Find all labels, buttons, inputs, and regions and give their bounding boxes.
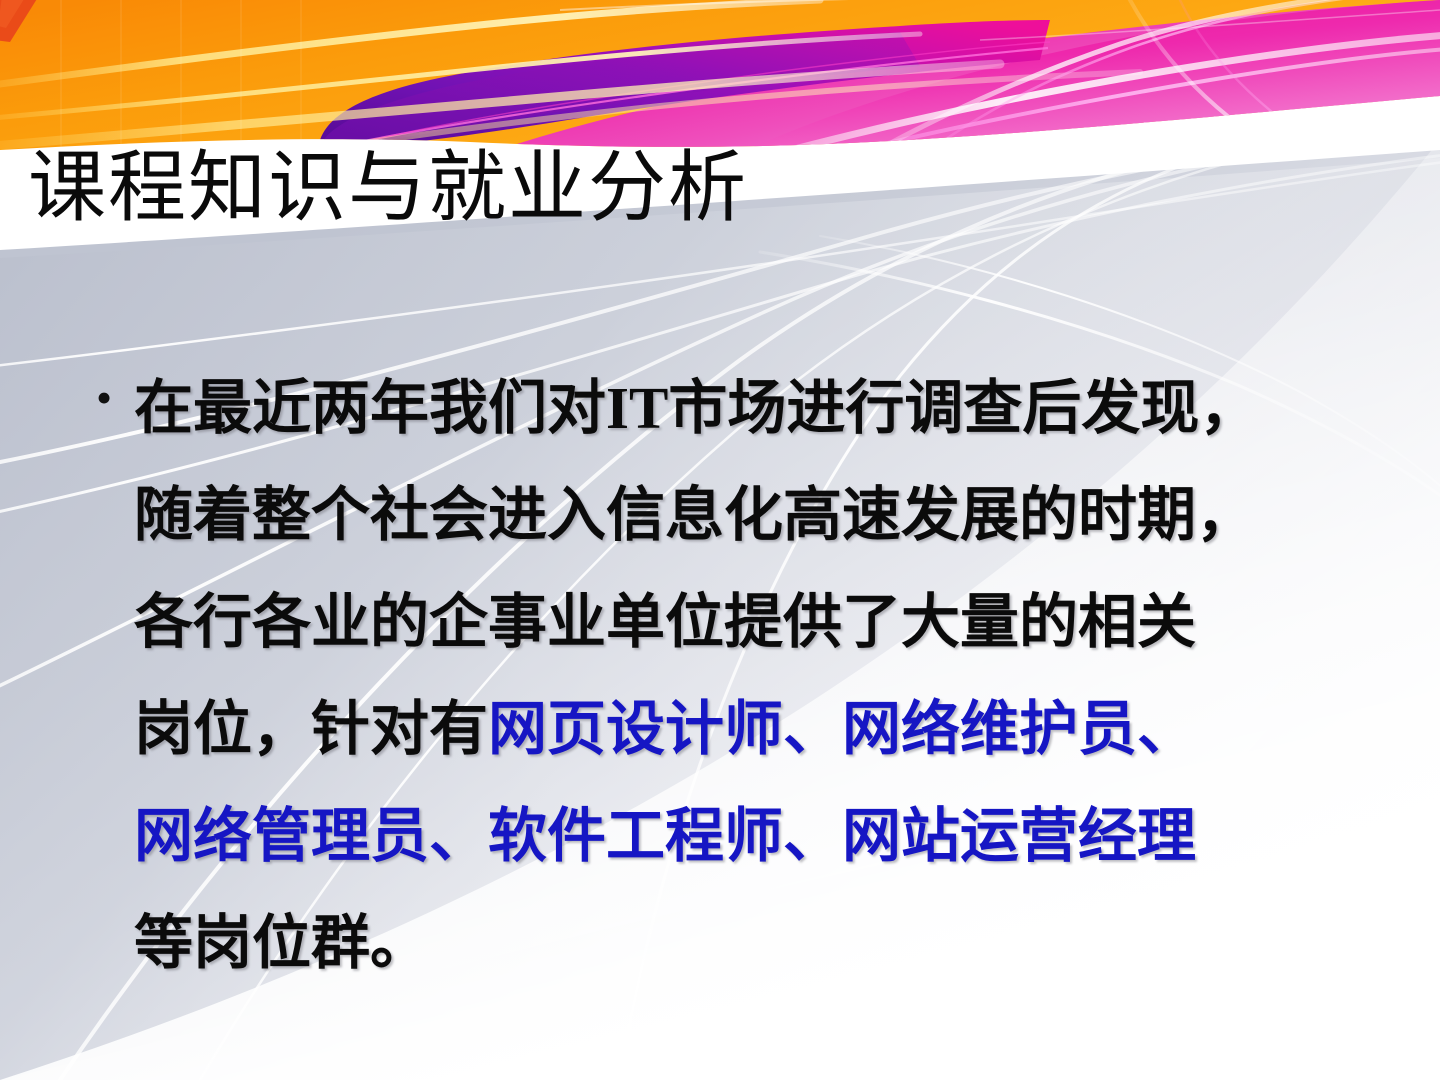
page-title: 课程知识与就业分析: [28, 148, 748, 228]
highlighted-job-titles: 网页设计师、网络维护员、: [488, 696, 1196, 762]
text-segment: 随着整个社会进入信息化高速发展的时期，: [134, 482, 1255, 548]
text-line-1: 在最近两年我们对IT市场进行调查后发现，: [134, 355, 1388, 462]
text-line-5: 网络管理员、软件工程师、网站运营经理: [134, 783, 1388, 890]
bullet-marker-icon: •: [88, 355, 134, 441]
slide-body: • 在最近两年我们对IT市场进行调查后发现， 随着整个社会进入信息化高速发展的时…: [88, 355, 1388, 997]
text-line-2: 随着整个社会进入信息化高速发展的时期，: [134, 462, 1388, 569]
highlighted-job-titles: 网络管理员、软件工程师、网站运营经理: [134, 803, 1196, 869]
text-line-4: 岗位，针对有网页设计师、网络维护员、: [134, 676, 1388, 783]
text-line-3: 各行各业的企事业单位提供了大量的相关: [134, 569, 1388, 676]
text-segment: 各行各业的企事业单位提供了大量的相关: [134, 589, 1196, 655]
text-segment: 岗位，针对有: [134, 696, 488, 762]
slide-canvas: 课程知识与就业分析 • 在最近两年我们对IT市场进行调查后发现， 随着整个社会进…: [0, 0, 1440, 1080]
paragraph-text: 在最近两年我们对IT市场进行调查后发现， 随着整个社会进入信息化高速发展的时期，…: [134, 355, 1388, 997]
text-segment: 在最近两年我们对IT市场进行调查后发现，: [134, 375, 1258, 441]
text-line-6: 等岗位群。: [134, 890, 1388, 997]
text-segment: 等岗位群。: [134, 910, 429, 976]
bullet-list-item: • 在最近两年我们对IT市场进行调查后发现， 随着整个社会进入信息化高速发展的时…: [88, 355, 1388, 997]
